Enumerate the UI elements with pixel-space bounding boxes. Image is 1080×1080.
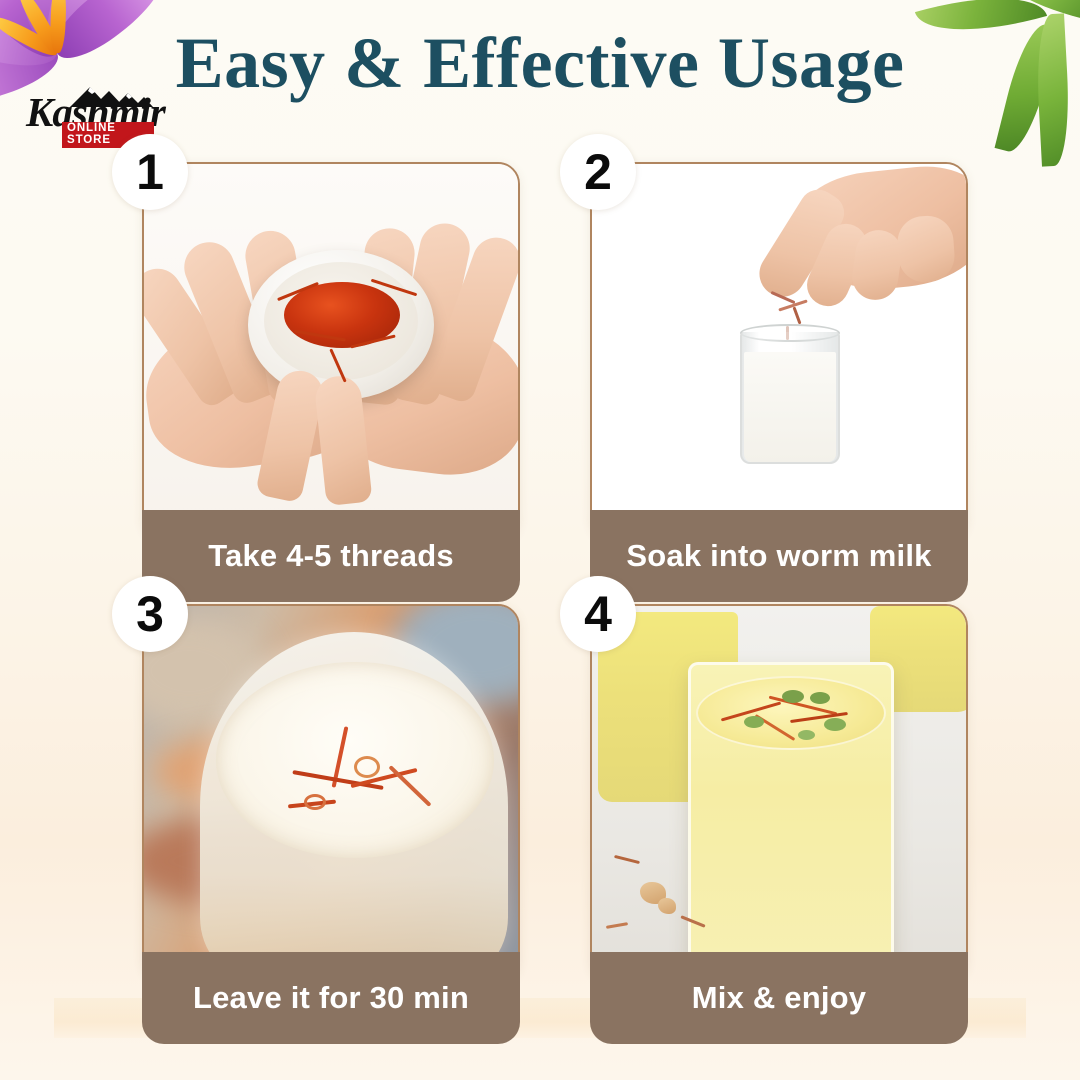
step-caption-4: Mix & enjoy	[590, 952, 968, 1044]
step-caption-1: Take 4-5 threads	[142, 510, 520, 602]
step-number-badge-3: 3	[112, 576, 188, 652]
poster-canvas: Kashmir ONLINE STORE Easy & Effective Us…	[0, 0, 1080, 1080]
step-caption-3: Leave it for 30 min	[142, 952, 520, 1044]
step-card-4[interactable]: 4 Mix & enjoy	[590, 604, 968, 982]
step-1-image	[144, 164, 518, 538]
steps-grid: 1 Take 4-5 threads	[142, 162, 968, 982]
step-number-badge-4: 4	[560, 576, 636, 652]
step-number-badge-1: 1	[112, 134, 188, 210]
step-caption-2: Soak into worm milk	[590, 510, 968, 602]
step-card-3[interactable]: 3 Leave it for 30 min	[142, 604, 520, 982]
step-2-image	[592, 164, 966, 538]
step-4-image	[592, 606, 966, 980]
page-title: Easy & Effective Usage	[0, 24, 1080, 103]
step-card-2[interactable]: 2 Soak into worm milk	[590, 162, 968, 540]
step-card-1[interactable]: 1 Take 4-5 threads	[142, 162, 520, 540]
step-3-image	[144, 606, 518, 980]
step-number-badge-2: 2	[560, 134, 636, 210]
